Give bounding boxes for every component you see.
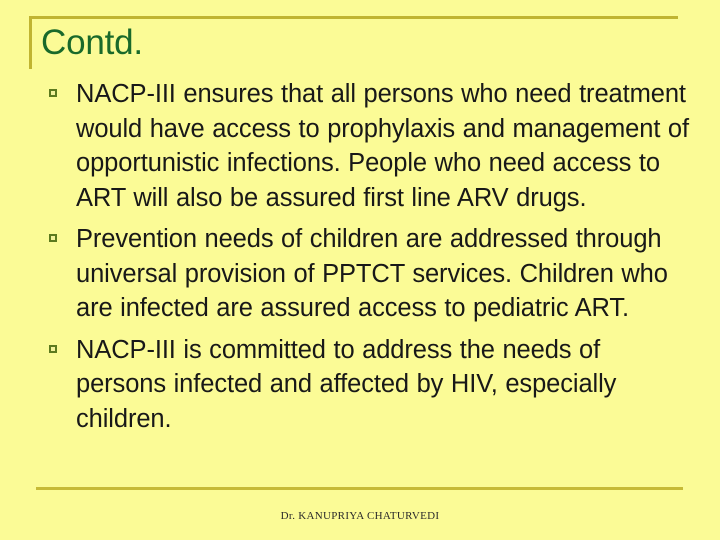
- body-bottom-rule: [36, 487, 683, 490]
- title-top-rule: [29, 16, 678, 19]
- hollow-square-bullet-icon: [49, 234, 57, 242]
- hollow-square-bullet-icon: [49, 345, 57, 353]
- list-item: NACP-III is committed to address the nee…: [44, 333, 694, 437]
- slide-footer-author: Dr. KANUPRIYA CHATURVEDI: [0, 509, 720, 523]
- list-item-text: NACP-III ensures that all persons who ne…: [76, 77, 694, 215]
- slide-body-bullet-list: NACP-III ensures that all persons who ne…: [44, 77, 694, 443]
- hollow-square-bullet-icon: [49, 89, 57, 97]
- list-item: Prevention needs of children are address…: [44, 222, 694, 326]
- list-item: NACP-III ensures that all persons who ne…: [44, 77, 694, 215]
- list-item-text: NACP-III is committed to address the nee…: [76, 333, 694, 437]
- slide-canvas: Contd. NACP-III ensures that all persons…: [0, 0, 720, 540]
- list-item-text: Prevention needs of children are address…: [76, 222, 694, 326]
- title-left-rule: [29, 16, 32, 69]
- slide-title: Contd.: [41, 23, 143, 63]
